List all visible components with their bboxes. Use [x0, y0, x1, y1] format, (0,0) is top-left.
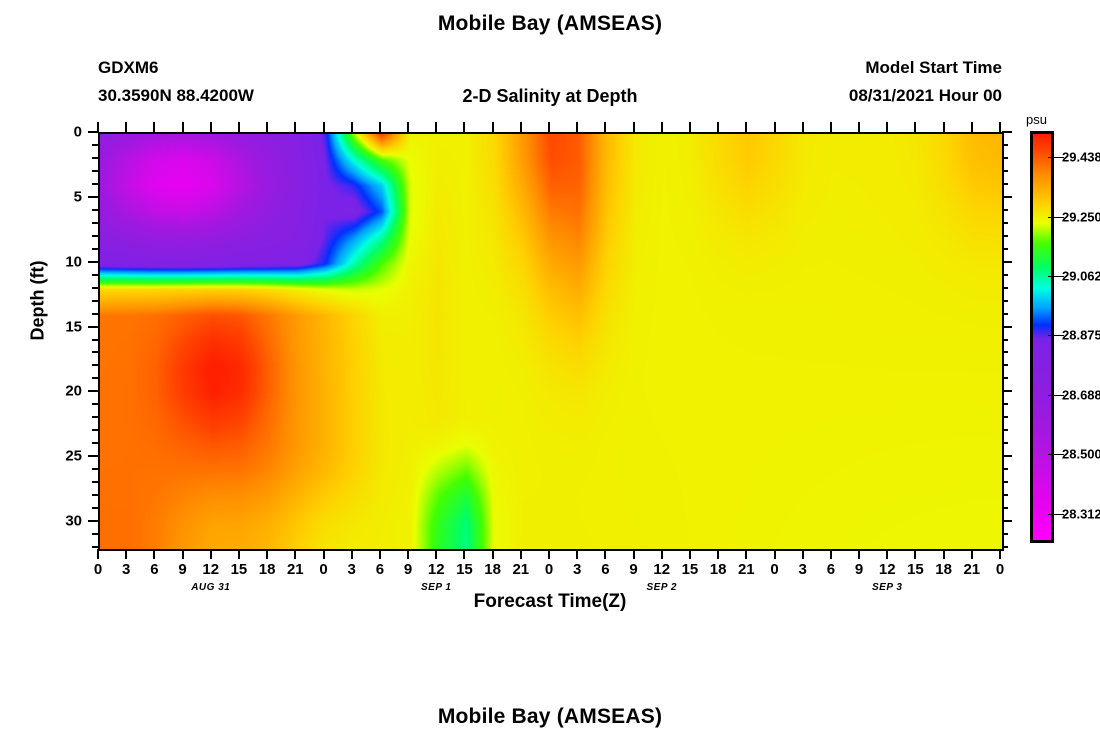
x-tick-label: 15 [907, 561, 924, 578]
x-tick-top [689, 122, 691, 132]
y-tick-left [92, 533, 98, 535]
x-tick-top [520, 122, 522, 132]
x-tick-label: 15 [456, 561, 473, 578]
x-tick-label: 18 [259, 561, 276, 578]
x-tick-bottom [492, 549, 494, 559]
y-tick-left [92, 403, 98, 405]
x-tick-top [717, 122, 719, 132]
x-axis-title: Forecast Time(Z) [0, 591, 1100, 613]
x-tick-top [604, 122, 606, 132]
y-tick-left [88, 455, 98, 457]
y-tick-right [1002, 326, 1012, 328]
y-tick-left [92, 494, 98, 496]
x-tick-bottom [604, 549, 606, 559]
x-tick-top [633, 122, 635, 132]
x-tick-bottom [463, 549, 465, 559]
x-tick-top [914, 122, 916, 132]
x-tick-top [153, 122, 155, 132]
y-tick-left [92, 468, 98, 470]
y-tick-right [1002, 442, 1008, 444]
y-tick-left [92, 507, 98, 509]
y-tick-left [92, 351, 98, 353]
x-tick-bottom [294, 549, 296, 559]
y-tick-right [1002, 339, 1008, 341]
x-tick-bottom [520, 549, 522, 559]
y-tick-left [92, 144, 98, 146]
y-tick-left [92, 481, 98, 483]
x-tick-top [379, 122, 381, 132]
y-tick-right [1002, 377, 1008, 379]
y-tick-left [88, 520, 98, 522]
x-tick-bottom [633, 549, 635, 559]
y-axis-title: Depth (ft) [28, 221, 49, 381]
x-tick-label: 6 [376, 561, 384, 578]
y-tick-right [1002, 313, 1008, 315]
x-tick-label: 3 [799, 561, 807, 578]
colorbar-tick-label: 28.500 [1062, 447, 1100, 462]
x-tick-label: 18 [484, 561, 501, 578]
y-tick-label: 20 [42, 383, 82, 400]
y-tick-right [1002, 351, 1008, 353]
x-tick-bottom [323, 549, 325, 559]
y-tick-left [88, 196, 98, 198]
x-tick-bottom [576, 549, 578, 559]
y-tick-left [92, 170, 98, 172]
y-tick-label: 0 [42, 124, 82, 141]
y-tick-right [1002, 222, 1008, 224]
footer-title: Mobile Bay (AMSEAS) [0, 705, 1100, 729]
x-tick-label: 12 [428, 561, 445, 578]
x-tick-bottom [914, 549, 916, 559]
y-tick-right [1002, 131, 1012, 133]
x-tick-top [182, 122, 184, 132]
x-tick-top [999, 122, 1001, 132]
heatmap-canvas [100, 134, 1002, 549]
y-tick-left [88, 261, 98, 263]
x-tick-label: 0 [545, 561, 553, 578]
x-tick-label: 12 [653, 561, 670, 578]
y-tick-right [1002, 183, 1008, 185]
model-start-time-value: 08/31/2021 Hour 00 [849, 86, 1002, 106]
x-tick-bottom [830, 549, 832, 559]
x-tick-bottom [407, 549, 409, 559]
y-tick-right [1002, 235, 1008, 237]
x-tick-label: 12 [879, 561, 896, 578]
y-tick-left [92, 364, 98, 366]
y-tick-right [1002, 170, 1008, 172]
x-tick-bottom [661, 549, 663, 559]
colorbar-unit-label: psu [1026, 112, 1047, 127]
colorbar-tick-label: 29.250 [1062, 209, 1100, 224]
x-tick-label: 9 [404, 561, 412, 578]
y-tick-right [1002, 403, 1008, 405]
y-tick-right [1002, 274, 1008, 276]
y-tick-left [92, 429, 98, 431]
x-tick-label: 6 [601, 561, 609, 578]
x-tick-bottom [266, 549, 268, 559]
x-tick-label: 3 [348, 561, 356, 578]
x-tick-label: 6 [827, 561, 835, 578]
x-tick-label: 0 [94, 561, 102, 578]
x-tick-label: 18 [710, 561, 727, 578]
y-tick-left [88, 131, 98, 133]
y-tick-right [1002, 300, 1008, 302]
x-tick-top [576, 122, 578, 132]
y-tick-left [92, 546, 98, 548]
y-tick-left [92, 339, 98, 341]
x-tick-bottom [886, 549, 888, 559]
x-tick-label: 15 [682, 561, 699, 578]
y-tick-right [1002, 261, 1012, 263]
x-tick-bottom [210, 549, 212, 559]
y-tick-right [1002, 416, 1008, 418]
x-tick-label: 9 [855, 561, 863, 578]
y-tick-left [92, 222, 98, 224]
x-tick-label: 9 [629, 561, 637, 578]
x-tick-bottom [802, 549, 804, 559]
y-tick-left [92, 300, 98, 302]
y-tick-right [1002, 287, 1008, 289]
x-tick-label: 0 [996, 561, 1004, 578]
x-tick-bottom [689, 549, 691, 559]
x-tick-bottom [745, 549, 747, 559]
y-tick-left [92, 313, 98, 315]
x-tick-label: 21 [963, 561, 980, 578]
x-tick-top [745, 122, 747, 132]
y-tick-right [1002, 390, 1012, 392]
x-tick-label: 0 [770, 561, 778, 578]
x-tick-top [661, 122, 663, 132]
y-tick-left [92, 183, 98, 185]
x-tick-bottom [943, 549, 945, 559]
x-tick-label: 0 [319, 561, 327, 578]
x-tick-bottom [182, 549, 184, 559]
x-tick-bottom [971, 549, 973, 559]
y-tick-left [92, 416, 98, 418]
x-tick-bottom [774, 549, 776, 559]
colorbar-tick-label: 28.688 [1062, 387, 1100, 402]
x-tick-label: 3 [122, 561, 130, 578]
y-tick-left [92, 274, 98, 276]
x-tick-bottom [238, 549, 240, 559]
x-tick-label: 6 [150, 561, 158, 578]
x-tick-bottom [548, 549, 550, 559]
y-tick-right [1002, 468, 1008, 470]
y-tick-left [92, 157, 98, 159]
y-tick-right [1002, 455, 1012, 457]
x-tick-top [886, 122, 888, 132]
y-tick-right [1002, 481, 1008, 483]
y-tick-left [92, 248, 98, 250]
y-tick-left [88, 390, 98, 392]
x-tick-top [463, 122, 465, 132]
x-tick-bottom [717, 549, 719, 559]
x-tick-top [323, 122, 325, 132]
x-tick-top [830, 122, 832, 132]
x-tick-top [266, 122, 268, 132]
x-tick-label: 15 [231, 561, 248, 578]
station-id: GDXM6 [98, 58, 158, 78]
y-tick-right [1002, 364, 1008, 366]
colorbar-tick-label: 28.312 [1062, 506, 1100, 521]
x-tick-top [548, 122, 550, 132]
colorbar-tick-label: 29.438 [1062, 149, 1100, 164]
x-tick-bottom [435, 549, 437, 559]
x-tick-label: 21 [512, 561, 529, 578]
y-tick-left [92, 287, 98, 289]
colorbar-gradient [1033, 134, 1051, 540]
y-tick-right [1002, 533, 1008, 535]
x-tick-top [125, 122, 127, 132]
x-tick-top [774, 122, 776, 132]
page-title: Mobile Bay (AMSEAS) [0, 12, 1100, 36]
x-tick-bottom [153, 549, 155, 559]
x-tick-top [858, 122, 860, 132]
salinity-heatmap-plot[interactable] [98, 132, 1004, 551]
y-tick-label: 30 [42, 513, 82, 530]
model-start-time-label: Model Start Time [865, 58, 1002, 78]
x-tick-label: 12 [202, 561, 219, 578]
y-tick-right [1002, 507, 1008, 509]
y-tick-right [1002, 157, 1008, 159]
y-tick-right [1002, 494, 1008, 496]
x-tick-top [294, 122, 296, 132]
y-tick-label: 25 [42, 448, 82, 465]
y-tick-right [1002, 144, 1008, 146]
x-tick-label: 21 [738, 561, 755, 578]
x-tick-label: 9 [178, 561, 186, 578]
y-tick-label: 5 [42, 188, 82, 205]
y-tick-left [88, 326, 98, 328]
x-tick-bottom [125, 549, 127, 559]
y-tick-left [92, 235, 98, 237]
x-tick-top [407, 122, 409, 132]
y-tick-right [1002, 429, 1008, 431]
y-tick-left [92, 209, 98, 211]
x-tick-top [351, 122, 353, 132]
y-tick-right [1002, 546, 1008, 548]
y-tick-left [92, 377, 98, 379]
x-tick-top [492, 122, 494, 132]
x-tick-bottom [379, 549, 381, 559]
x-tick-bottom [97, 549, 99, 559]
colorbar-tick-label: 28.875 [1062, 328, 1100, 343]
x-tick-label: 18 [935, 561, 952, 578]
x-tick-label: 3 [573, 561, 581, 578]
y-tick-right [1002, 196, 1012, 198]
x-tick-label: 21 [287, 561, 304, 578]
x-tick-top [802, 122, 804, 132]
y-tick-left [92, 442, 98, 444]
x-tick-top [943, 122, 945, 132]
x-tick-bottom [351, 549, 353, 559]
x-tick-top [435, 122, 437, 132]
colorbar[interactable] [1030, 131, 1054, 543]
y-tick-right [1002, 248, 1008, 250]
x-tick-bottom [999, 549, 1001, 559]
colorbar-tick-label: 29.062 [1062, 269, 1100, 284]
y-tick-right [1002, 209, 1008, 211]
x-tick-top [238, 122, 240, 132]
x-tick-top [971, 122, 973, 132]
y-tick-right [1002, 520, 1012, 522]
x-tick-bottom [858, 549, 860, 559]
x-tick-top [210, 122, 212, 132]
